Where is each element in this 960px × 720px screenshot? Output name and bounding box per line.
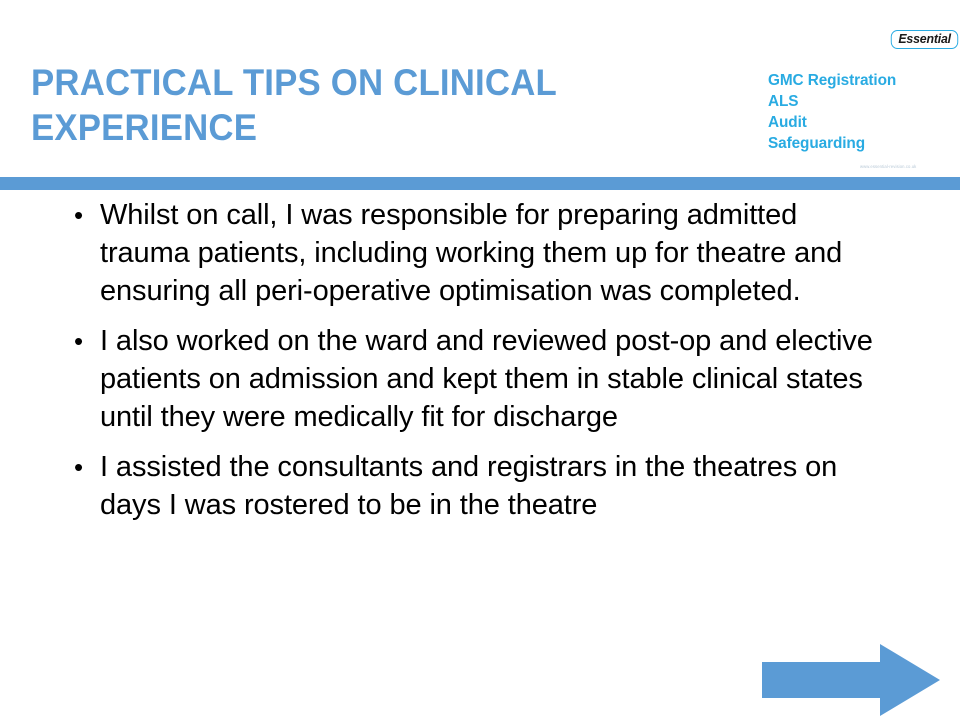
brand-keyword-als: ALS — [768, 91, 896, 112]
essential-badge: Essential — [890, 30, 958, 49]
bullet-marker-icon: • — [74, 448, 83, 486]
slide-canvas: PRACTICAL TIPS ON CLINICAL EXPERIENCE Es… — [0, 0, 960, 720]
brand-keyword-gmc-registration: GMC Registration — [768, 70, 896, 91]
header-divider-bar — [0, 177, 960, 190]
brand-keyword-safeguarding: Safeguarding — [768, 133, 896, 154]
page-title-line-1: PRACTICAL TIPS ON CLINICAL — [31, 60, 595, 105]
list-item-text: I also worked on the ward and reviewed p… — [100, 322, 890, 436]
list-item-text: Whilst on call, I was responsible for pr… — [100, 196, 890, 310]
list-item-text: I assisted the consultants and registrar… — [100, 448, 890, 524]
essential-badge-container: Essential — [889, 30, 960, 49]
page-title-line-2: EXPERIENCE — [31, 105, 595, 150]
brand-keyword-audit: Audit — [768, 112, 896, 133]
bullet-marker-icon: • — [74, 322, 83, 360]
list-item: • Whilst on call, I was responsible for … — [0, 196, 960, 310]
logo-watermark: www.essential-revision.co.uk — [860, 164, 916, 169]
slide-header: PRACTICAL TIPS ON CLINICAL EXPERIENCE Es… — [0, 0, 960, 177]
brand-keyword-list: GMC Registration ALS Audit Safeguarding — [768, 70, 896, 154]
list-item: • I assisted the consultants and registr… — [0, 448, 960, 524]
page-title: PRACTICAL TIPS ON CLINICAL EXPERIENCE — [31, 60, 595, 150]
next-arrow-icon[interactable] — [762, 644, 940, 716]
list-item: • I also worked on the ward and reviewed… — [0, 322, 960, 436]
bullet-marker-icon: • — [74, 196, 83, 234]
slide-body: • Whilst on call, I was responsible for … — [0, 196, 960, 536]
